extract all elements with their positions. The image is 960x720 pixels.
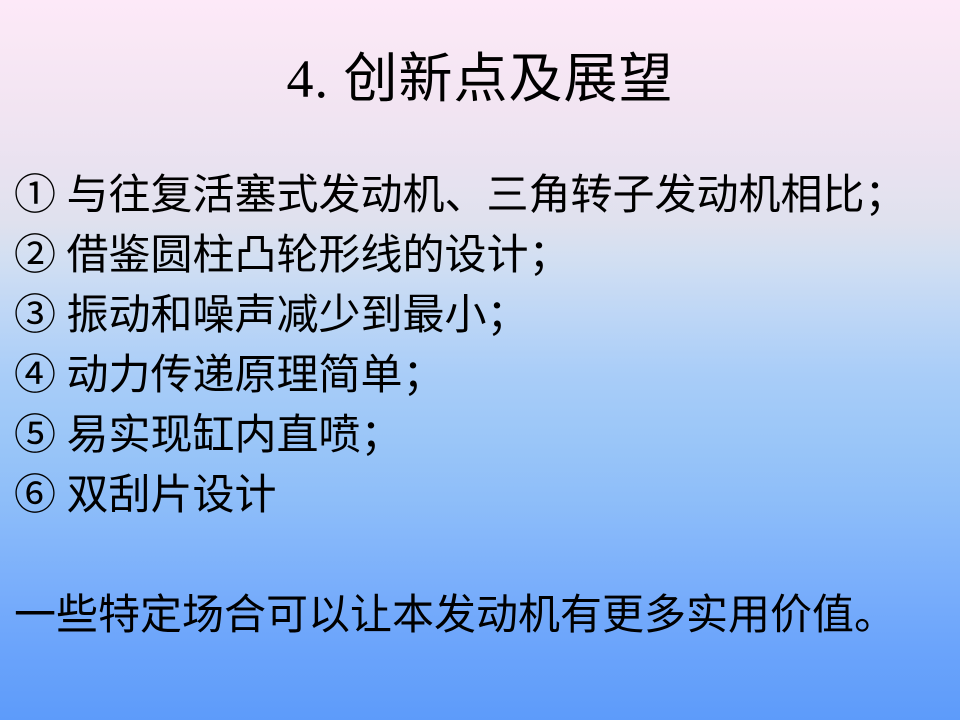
bullet-text-5: 易实现缸内直喷； [67,413,403,459]
bullet-item-1: ① 与往复活塞式发动机、三角转子发动机相比； [14,166,946,226]
bullet-item-5: ⑤ 易实现缸内直喷； [14,406,946,466]
slide-title: 4. 创新点及展望 [0,48,960,112]
bullet-marker-2: ② [14,233,56,279]
paragraph-spacer [14,526,946,586]
bullet-text-6: 双刮片设计 [67,473,277,519]
closing-statement: 一些特定场合可以让本发动机有更多实用价值。 [14,586,946,646]
bullet-item-4: ④ 动力传递原理简单； [14,346,946,406]
bullet-item-6: ⑥ 双刮片设计 [14,466,946,526]
bullet-text-2: 借鉴圆柱凸轮形线的设计； [67,233,571,279]
bullet-marker-6: ⑥ [14,473,56,519]
bullet-item-3: ③ 振动和噪声减少到最小； [14,286,946,346]
bullet-text-4: 动力传递原理简单； [67,353,445,399]
presentation-slide: 4. 创新点及展望 ① 与往复活塞式发动机、三角转子发动机相比； ② 借鉴圆柱凸… [0,0,960,720]
bullet-marker-4: ④ [14,353,56,399]
bullet-marker-1: ① [14,173,56,219]
bullet-item-2: ② 借鉴圆柱凸轮形线的设计； [14,226,946,286]
bullet-text-3: 振动和噪声减少到最小； [67,293,529,339]
bullet-marker-5: ⑤ [14,413,56,459]
slide-body: ① 与往复活塞式发动机、三角转子发动机相比； ② 借鉴圆柱凸轮形线的设计； ③ … [14,166,946,646]
bullet-text-1: 与往复活塞式发动机、三角转子发动机相比； [67,173,907,219]
bullet-marker-3: ③ [14,293,56,339]
